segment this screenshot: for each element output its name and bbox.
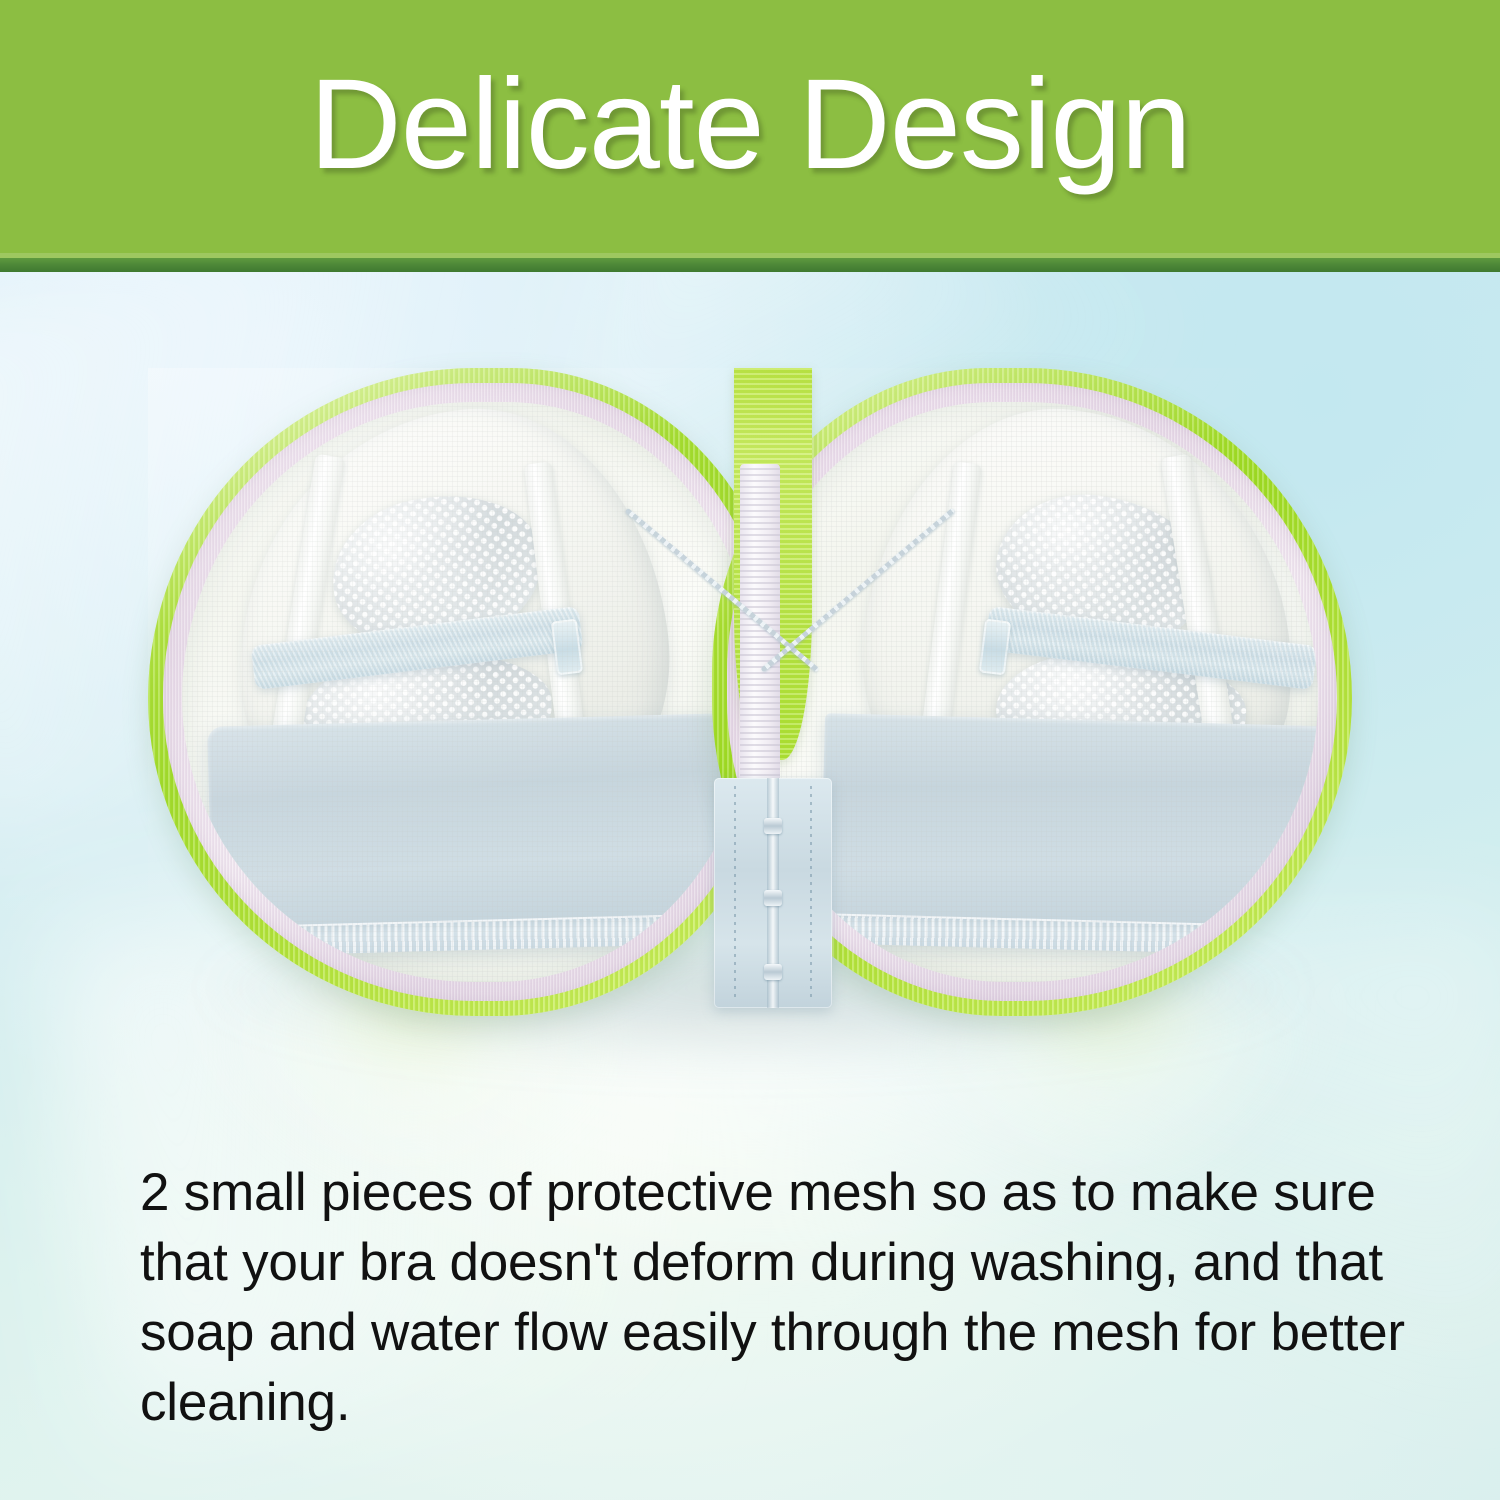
mesh-window-left — [182, 402, 754, 982]
protective-mesh-pad-lower-left — [299, 646, 555, 779]
bra-front-closure — [714, 778, 832, 1008]
hook-and-eye-clasp — [764, 964, 782, 980]
bra-elastic-strap-right — [985, 606, 1318, 690]
page-title: Delicate Design — [0, 58, 1500, 192]
bra-wash-bag — [148, 368, 1352, 1016]
header-rule — [0, 258, 1500, 272]
closure-stitching — [734, 786, 736, 1000]
bra-elastic-strap-left — [251, 606, 584, 690]
bra-strap-white-left-inner — [524, 461, 588, 762]
protective-mesh-pad-upper-right — [985, 480, 1218, 664]
hook-and-eye-clasp — [764, 890, 782, 906]
bra-cup-right — [845, 402, 1318, 863]
band-lace-edge-left — [212, 913, 733, 957]
protective-mesh-pad-lower-right — [993, 646, 1249, 779]
hook-and-eye-clasp — [764, 818, 782, 834]
product-feature-image: Delicate Design — [0, 0, 1500, 1500]
strap-adjuster-right — [979, 619, 1011, 676]
feature-caption: 2 small pieces of protective mesh so as … — [140, 1158, 1410, 1438]
closure-stitching — [810, 786, 812, 1000]
product-photo: 2 small pieces of protective mesh so as … — [0, 272, 1500, 1500]
bra-strap-white-right-outer — [1160, 454, 1241, 785]
bra-band-right — [819, 713, 1318, 957]
strap-adjuster-left — [551, 619, 583, 676]
header-banner: Delicate Design — [0, 0, 1500, 272]
bra-cup-left — [215, 402, 688, 863]
bra-strap-white-left-outer — [264, 454, 345, 785]
bra-band-left — [207, 713, 733, 957]
zipper-rim-left — [148, 368, 788, 1016]
bag-lobe-left — [148, 368, 788, 1016]
bra-front-zipper-tape — [740, 464, 780, 794]
band-lace-edge-right — [819, 913, 1318, 957]
protective-mesh-pad-upper-left — [321, 480, 554, 664]
bra-strap-white-right-inner — [918, 461, 982, 762]
